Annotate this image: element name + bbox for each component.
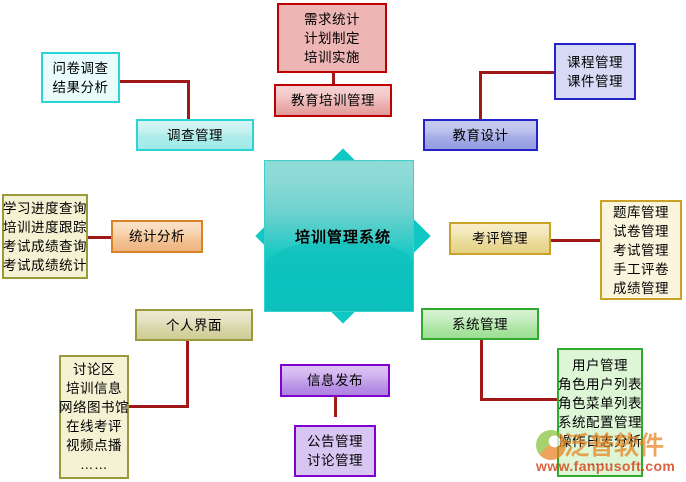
- primary-node-system-management[interactable]: 系统管理: [421, 308, 539, 340]
- center-node-training-management-system[interactable]: 培训管理系统: [238, 148, 448, 324]
- connector-personal-interface-vertical: [186, 340, 189, 407]
- leaf-item: 公告管理: [307, 432, 363, 451]
- primary-node-education-training[interactable]: 教育培训管理: [274, 84, 392, 117]
- leaf-item: 结果分析: [53, 78, 109, 97]
- leaf-item: 成绩管理: [613, 279, 669, 298]
- leaf-node-survey-items[interactable]: 问卷调查 结果分析: [41, 52, 120, 103]
- leaf-node-assessment-items[interactable]: 题库管理 试卷管理 考试管理 手工评卷 成绩管理: [600, 200, 682, 300]
- leaf-item: 用户管理: [572, 356, 628, 375]
- leaf-node-system-management-items[interactable]: 用户管理 角色用户列表 角色菜单列表 系统配置管理 操作日志分析 ……: [557, 348, 643, 477]
- leaf-item: 讨论区: [73, 360, 115, 379]
- leaf-node-statistics-items[interactable]: 学习进度查询 培训进度跟踪 考试成绩查询 考试成绩统计: [2, 194, 88, 279]
- leaf-item: 考试成绩统计: [3, 256, 87, 275]
- leaf-item: 培训实施: [304, 48, 360, 67]
- leaf-item: 在线考评: [66, 417, 122, 436]
- connector-survey-horizontal: [118, 80, 190, 83]
- primary-node-label: 教育培训管理: [291, 91, 375, 110]
- leaf-item: 讨论管理: [307, 451, 363, 470]
- leaf-item: 需求统计: [304, 10, 360, 29]
- leaf-item: 培训进度跟踪: [3, 218, 87, 237]
- diagram-canvas: 培训管理系统 需求统计 计划制定 培训实施 教育培训管理 问卷调查 结果分析 调…: [0, 0, 686, 482]
- primary-node-label: 信息发布: [307, 371, 363, 390]
- leaf-item: 视频点播: [66, 436, 122, 455]
- primary-node-label: 教育设计: [453, 126, 509, 145]
- leaf-item: ……: [586, 451, 614, 470]
- primary-node-label: 考评管理: [472, 229, 528, 248]
- leaf-node-education-training-items[interactable]: 需求统计 计划制定 培训实施: [277, 3, 387, 73]
- leaf-item: 网络图书馆: [59, 398, 129, 417]
- leaf-node-education-design-items[interactable]: 课程管理 课件管理: [554, 43, 636, 100]
- connector-assessment: [549, 239, 601, 242]
- leaf-item: 操作日志分析: [558, 432, 642, 451]
- primary-node-survey-management[interactable]: 调查管理: [136, 119, 254, 151]
- leaf-item: 试卷管理: [613, 222, 669, 241]
- leaf-item: 手工评卷: [613, 260, 669, 279]
- leaf-item: 角色用户列表: [558, 375, 642, 394]
- primary-node-label: 调查管理: [167, 126, 223, 145]
- connector-education-design-vertical: [479, 71, 482, 120]
- leaf-item: 学习进度查询: [3, 199, 87, 218]
- connector-survey-vertical: [187, 80, 190, 120]
- leaf-item: 考试成绩查询: [3, 237, 87, 256]
- connector-personal-interface-horizontal: [128, 405, 189, 408]
- primary-node-education-design[interactable]: 教育设计: [423, 119, 538, 151]
- connector-system-management-horizontal: [480, 398, 558, 401]
- primary-node-assessment-management[interactable]: 考评管理: [449, 222, 551, 255]
- connector-education-design-horizontal: [479, 71, 555, 74]
- leaf-node-personal-interface-items[interactable]: 讨论区 培训信息 网络图书馆 在线考评 视频点播 ……: [59, 355, 129, 479]
- primary-node-statistical-analysis[interactable]: 统计分析: [111, 220, 203, 253]
- leaf-item: 培训信息: [66, 379, 122, 398]
- leaf-item: 问卷调查: [53, 59, 109, 78]
- leaf-node-information-release-items[interactable]: 公告管理 讨论管理: [294, 425, 376, 477]
- primary-node-personal-interface[interactable]: 个人界面: [135, 309, 253, 341]
- primary-node-label: 个人界面: [166, 316, 222, 335]
- primary-node-label: 统计分析: [129, 227, 185, 246]
- leaf-item: 课件管理: [567, 72, 623, 91]
- connector-statistics: [88, 236, 112, 239]
- leaf-item: ……: [80, 455, 108, 474]
- leaf-item: 课程管理: [567, 53, 623, 72]
- leaf-item: 计划制定: [304, 29, 360, 48]
- center-node-label: 培训管理系统: [238, 148, 448, 324]
- leaf-item: 系统配置管理: [558, 413, 642, 432]
- leaf-item: 考试管理: [613, 241, 669, 260]
- connector-information-release: [334, 396, 337, 417]
- leaf-item: 角色菜单列表: [558, 394, 642, 413]
- connector-system-management-vertical: [480, 339, 483, 400]
- leaf-item: 题库管理: [613, 203, 669, 222]
- primary-node-label: 系统管理: [452, 315, 508, 334]
- primary-node-information-release[interactable]: 信息发布: [280, 364, 390, 397]
